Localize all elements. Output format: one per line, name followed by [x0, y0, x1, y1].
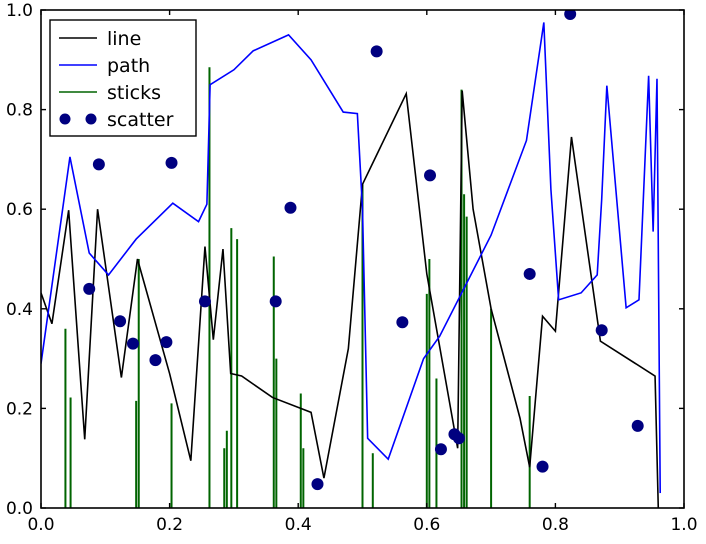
x-tick-label: 0.8	[542, 515, 569, 535]
x-tick-label: 0.6	[413, 515, 440, 535]
x-tick-label: 0.2	[156, 515, 183, 535]
y-tick-label: 0.8	[6, 101, 33, 121]
plot-canvas: 0.00.20.40.60.81.00.00.20.40.60.81.0 lin…	[0, 0, 706, 544]
y-tick-label: 0.0	[6, 499, 33, 519]
legend[interactable]: linepathsticksscatter	[50, 20, 196, 136]
legend-label-scatter: scatter	[107, 109, 174, 131]
y-tick-label: 0.6	[6, 200, 33, 220]
y-tick-label: 1.0	[6, 1, 33, 21]
legend-label-sticks: sticks	[107, 82, 161, 104]
y-tick-label: 0.4	[6, 300, 33, 320]
legend-label-line: line	[107, 28, 141, 50]
x-tick-label: 1.0	[670, 515, 697, 535]
x-tick-label: 0.4	[285, 515, 312, 535]
matplotlib-figure: 0.00.20.40.60.81.00.00.20.40.60.81.0 lin…	[0, 0, 706, 544]
y-tick-label: 0.2	[6, 399, 33, 419]
legend-label-path: path	[107, 55, 150, 77]
